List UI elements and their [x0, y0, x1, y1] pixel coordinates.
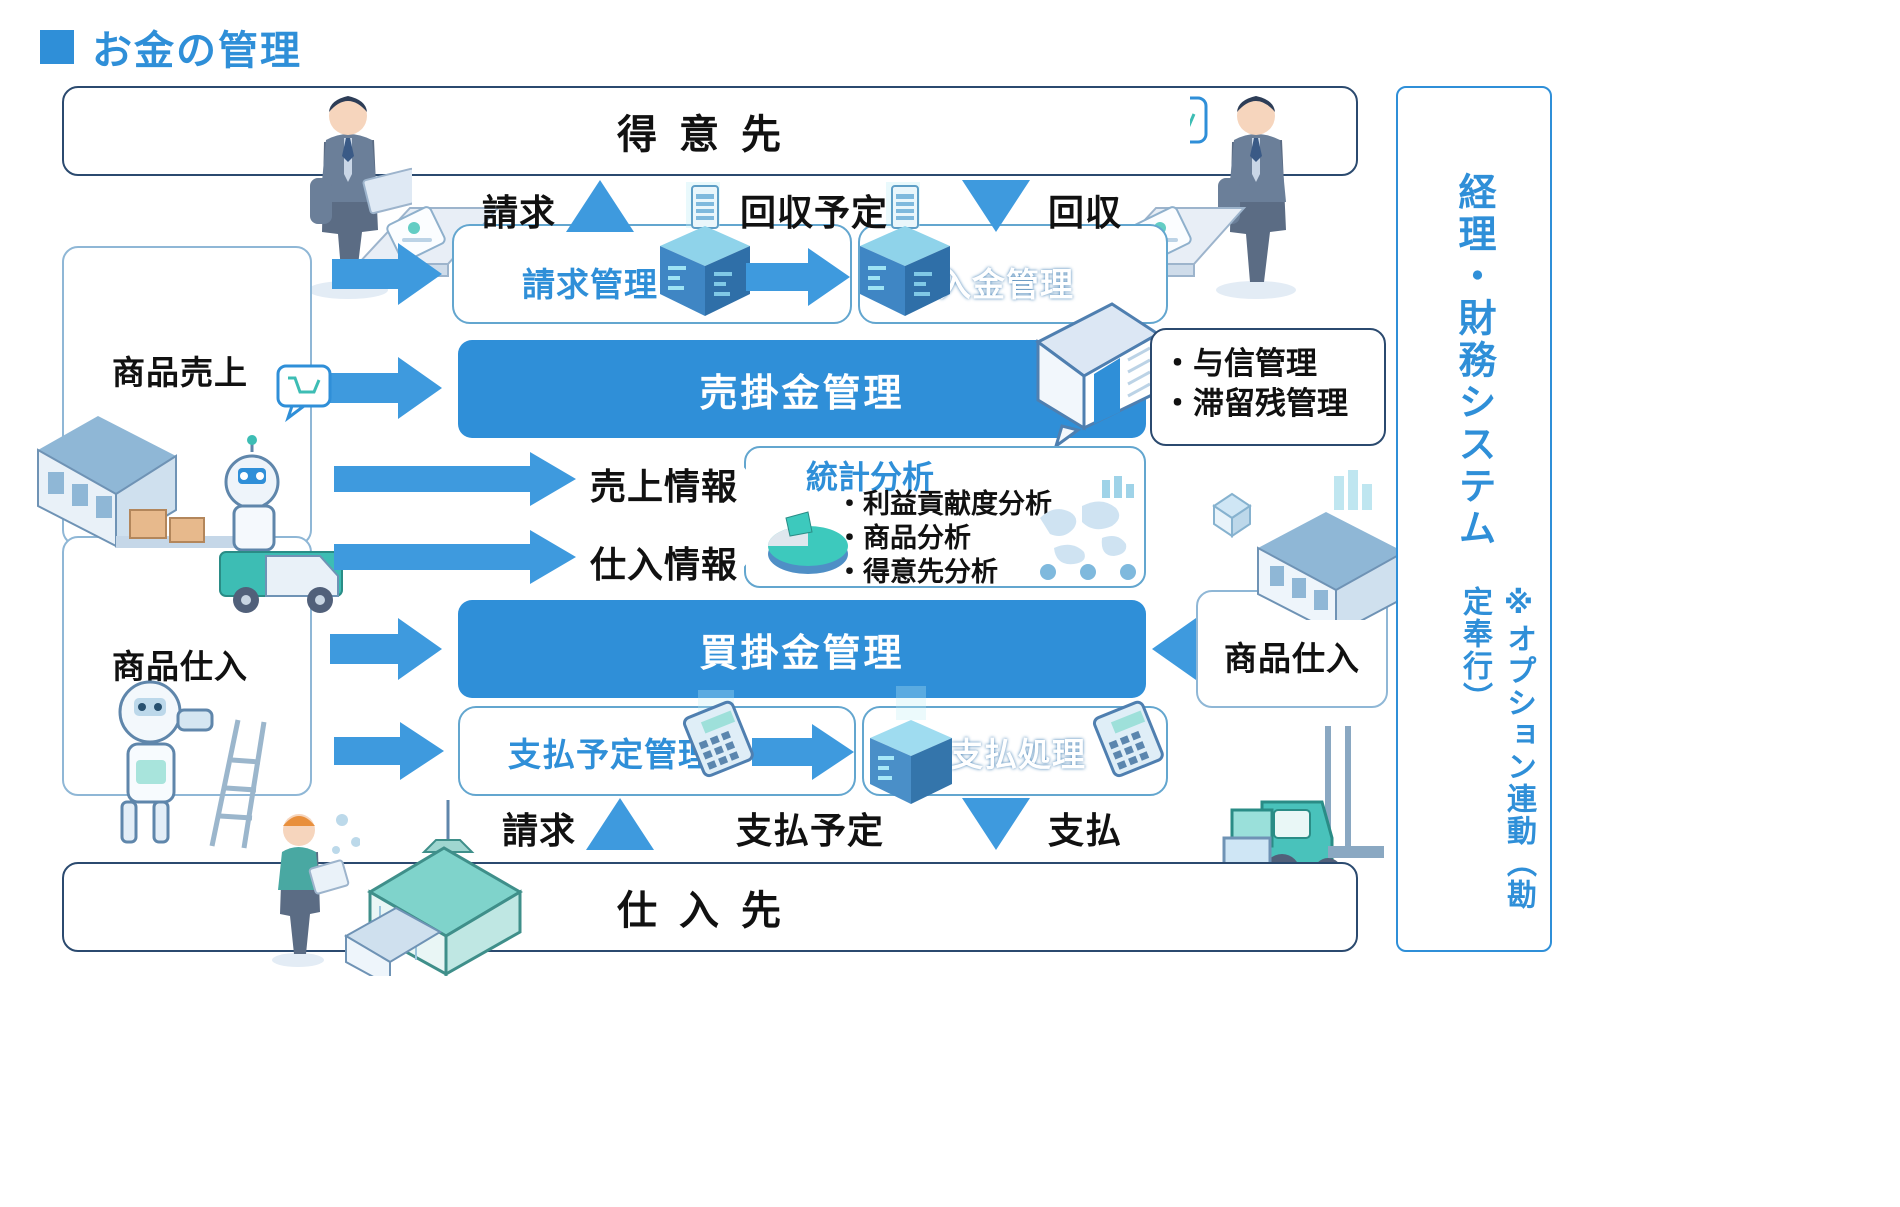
product-sales-box	[62, 246, 312, 546]
payment-label: 支払	[1048, 802, 1122, 854]
statistics-notch	[742, 465, 786, 569]
receivable-management-label: 売掛金管理	[699, 362, 904, 417]
arrow-to-payment-plan	[334, 722, 444, 780]
accounting-system-label: 経理・財務システム	[1446, 172, 1501, 572]
customer-party-label: 得意先	[64, 88, 1356, 174]
sales-info-label: 売上情報	[590, 458, 738, 510]
credit-item-1: ・滞留残管理	[1162, 384, 1348, 424]
arrow-to-invoice-management	[332, 243, 442, 305]
invoice-top-label: 請求	[482, 184, 556, 236]
statistics-item-2: ・得意先分析	[836, 556, 1052, 590]
accounting-system-note: ※オプション連動（勘定奉行）	[1452, 586, 1540, 916]
page-title: お金の管理	[40, 18, 302, 76]
supplier-party-box: 仕入先	[62, 862, 1358, 952]
page-title-text: お金の管理	[92, 18, 302, 76]
collection-plan-label: 回収予定	[740, 184, 888, 236]
supplier-party-label: 仕入先	[64, 864, 1356, 950]
statistics-item-1: ・商品分析	[836, 522, 1052, 556]
deposit-management-label: 入金管理	[938, 258, 1074, 306]
product-purchase-label: 商品仕入	[112, 640, 248, 688]
arrow-sales-to-receivable	[330, 357, 442, 419]
arrow-purchase-info	[334, 530, 576, 584]
statistics-item-0: ・利益貢献度分析	[836, 488, 1052, 522]
receivable-management-band[interactable]: 売掛金管理	[458, 340, 1146, 438]
arrow-purchase-to-payable	[330, 618, 442, 680]
arrow-payment-plan-to-process	[752, 724, 854, 780]
payment-plan-label: 支払予定	[736, 802, 884, 854]
payment-process-label: 支払処理	[950, 728, 1086, 776]
credit-management-list: ・与信管理 ・滞留残管理	[1162, 344, 1348, 425]
collection-down-arrow	[962, 180, 1030, 232]
credit-item-0: ・与信管理	[1162, 344, 1348, 384]
payment-plan-management-label: 支払予定管理	[508, 728, 712, 776]
invoice-bottom-up-arrow	[586, 798, 654, 850]
arrow-sales-info	[334, 452, 576, 506]
invoice-bottom-label: 請求	[502, 802, 576, 854]
customer-party-box: 得意先	[62, 86, 1358, 176]
title-bullet-square	[40, 30, 74, 64]
invoice-up-arrow	[566, 180, 634, 232]
arrow-invoice-to-deposit	[746, 248, 850, 306]
payable-management-band[interactable]: 買掛金管理	[458, 600, 1146, 698]
invoice-management-label: 請求管理	[522, 258, 658, 306]
product-sales-label: 商品売上	[112, 346, 248, 394]
payable-management-label: 買掛金管理	[699, 622, 904, 677]
payment-down-arrow	[962, 798, 1030, 850]
statistics-list: ・利益貢献度分析 ・商品分析 ・得意先分析	[836, 488, 1052, 589]
right-product-purchase-label: 商品仕入	[1224, 632, 1360, 680]
purchase-info-label: 仕入情報	[590, 536, 738, 588]
collection-label: 回収	[1048, 184, 1122, 236]
